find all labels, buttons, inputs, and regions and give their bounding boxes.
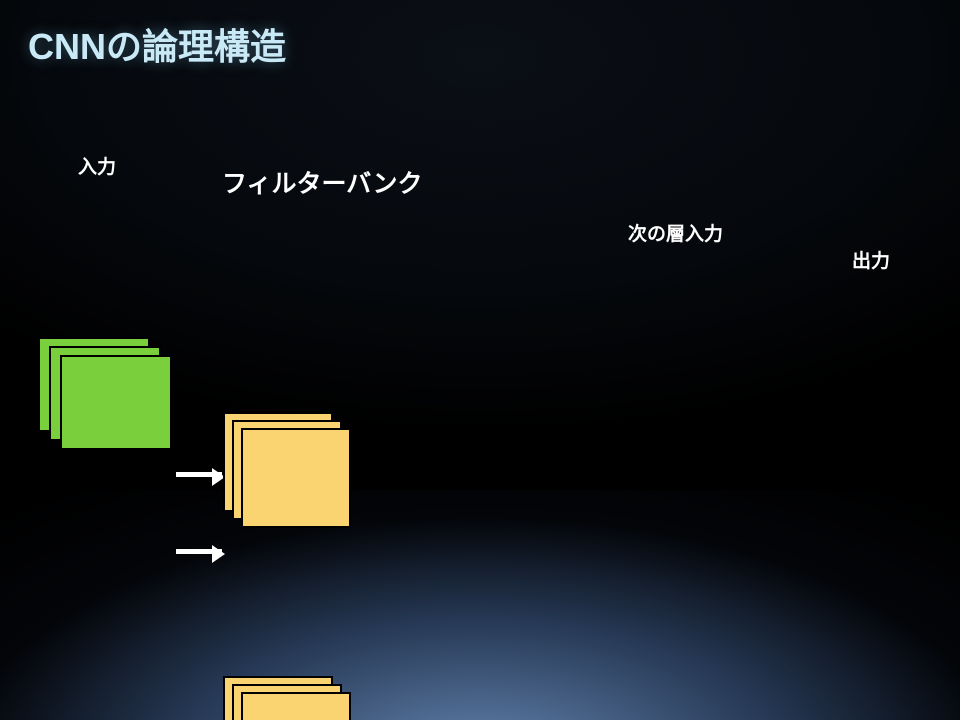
filter-bank-stack-bottom [223,676,363,720]
filter-bank-stack-top [223,412,363,542]
label-filter-bank: フィルターバンク [222,164,960,200]
filter-sheet-front-2 [241,692,351,720]
filter-sheet-front [241,428,351,528]
page-title: CNNの論理構造 [28,18,960,70]
label-output: 出力 [852,246,960,273]
label-next-layer-input: 次の層入力 [628,219,960,246]
slide-canvas: CNNの論理構造 入力 フィルターバンク 次の層入力 出力 + バイアス + バ… [0,0,960,720]
arrow-input-to-filter-top [176,472,222,477]
arrow-input-to-filter-bottom [176,549,222,554]
input-sheet-front [60,355,172,450]
input-feature-stack [38,337,173,452]
